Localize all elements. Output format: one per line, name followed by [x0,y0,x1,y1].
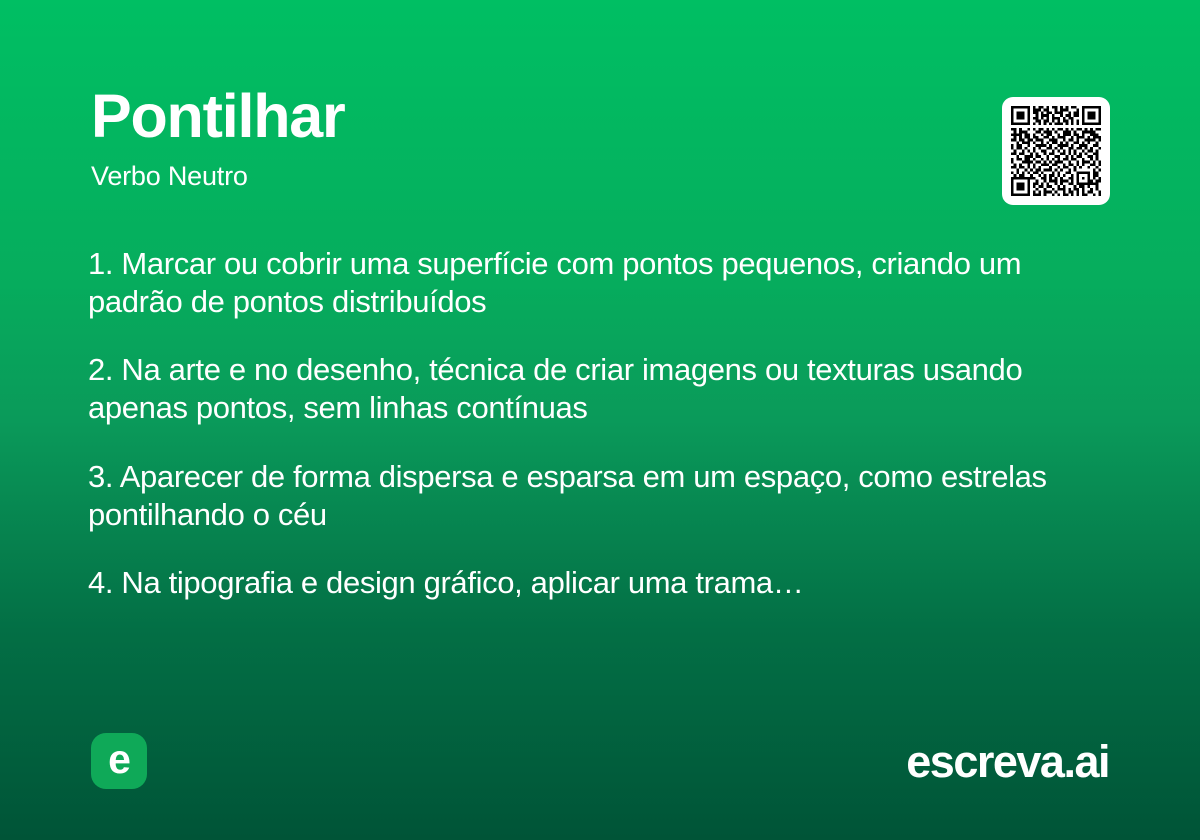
word-class-label: Verbo Neutro [91,162,971,192]
definition-item: 4. Na tipografia e design gráfico, aplic… [88,564,1112,602]
escreva-logo-badge: e [91,733,147,789]
brand-wordmark: escreva.ai [906,739,1109,784]
page-title: Pontilhar [91,86,971,147]
definition-item: 1. Marcar ou cobrir uma superfície com p… [88,245,1112,321]
definition-item: 2. Na arte e no desenho, técnica de cria… [88,351,1112,427]
dictionary-card: Pontilhar Verbo Neutro [0,0,1200,840]
qr-code[interactable] [1002,97,1110,205]
qr-code-icon [1011,106,1101,196]
logo-e-glyph: e [108,739,130,780]
definition-item: 3. Aparecer de forma dispersa e esparsa … [88,458,1112,534]
card-footer: e escreva.ai [0,732,1200,790]
definitions-list: 1. Marcar ou cobrir uma superfície com p… [88,245,1112,602]
card-header: Pontilhar Verbo Neutro [91,86,971,192]
